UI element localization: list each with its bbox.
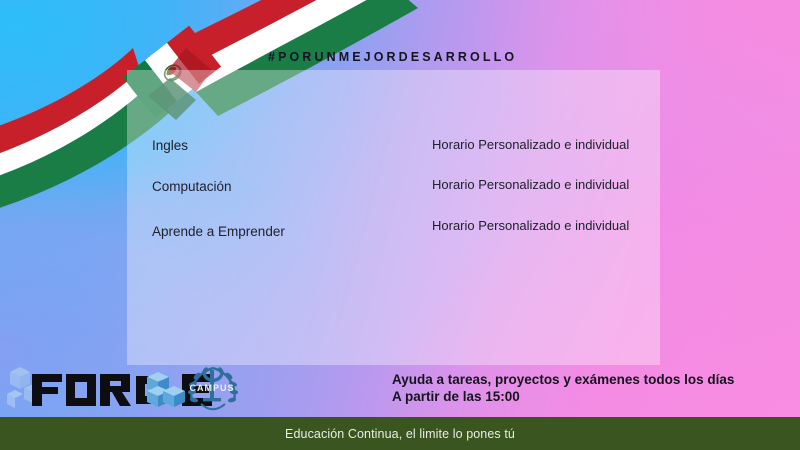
promo-line-2: A partir de las 15:00 [392, 388, 734, 405]
promotional-slide: #PORUNMEJORDESARROLLO Ingles Horario Per… [0, 0, 800, 450]
course-name: Computación [152, 179, 232, 194]
course-schedule: Horario Personalizado e individual [432, 177, 629, 192]
course-schedule: Horario Personalizado e individual [432, 137, 629, 152]
footer-tagline: Educación Continua, el limite lo pones t… [285, 427, 515, 441]
course-name: Aprende a Emprender [152, 224, 285, 239]
footer-bar: Educación Continua, el limite lo pones t… [0, 417, 800, 450]
hashtag-headline: #PORUNMEJORDESARROLLO [268, 50, 517, 64]
course-name: Ingles [152, 138, 188, 153]
logo-cubes [147, 372, 185, 407]
course-row: Ingles Horario Personalizado e individua… [152, 132, 652, 173]
course-schedule: Horario Personalizado e individual [432, 218, 629, 233]
course-row: Computación Horario Personalizado e indi… [152, 173, 652, 214]
force-logo: CAMPUS [6, 358, 238, 414]
emblem-wordmark: CAMPUS [189, 383, 234, 393]
course-row: Aprende a Emprender Horario Personalizad… [152, 214, 652, 255]
promo-block: Ayuda a tareas, proyectos y exámenes tod… [392, 371, 734, 405]
promo-line-1: Ayuda a tareas, proyectos y exámenes tod… [392, 371, 734, 388]
course-list: Ingles Horario Personalizado e individua… [152, 132, 652, 255]
